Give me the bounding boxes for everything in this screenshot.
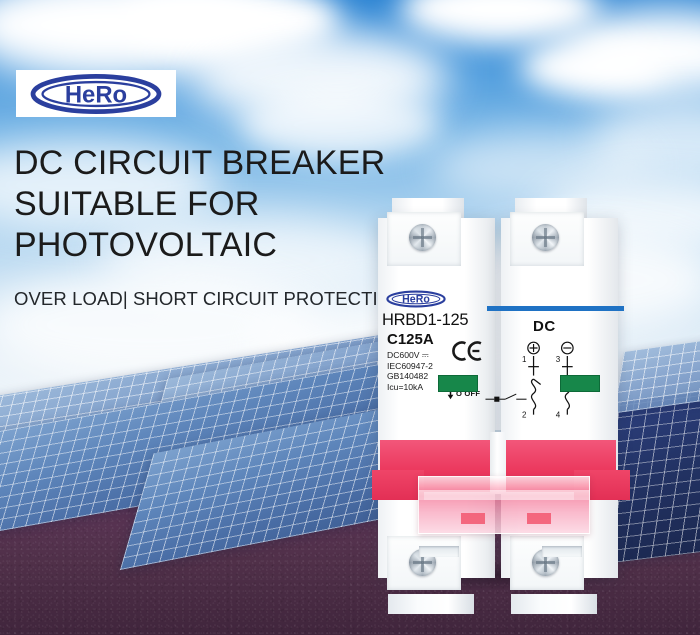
toggle-lip-left	[372, 470, 424, 500]
svg-text:3: 3	[556, 355, 561, 364]
terminal-top-right	[510, 212, 584, 266]
indicator-window-right	[560, 375, 600, 392]
page-title: DC CIRCUIT BREAKER SUITABLE FOR PHOTOVOL…	[14, 143, 434, 266]
product-specs: DC600V ⎓ IEC60947-2 GB140482 Icu=10kA	[387, 350, 433, 392]
toggle-notch	[461, 513, 485, 524]
cloud	[520, 40, 670, 95]
hero-logo-icon: HeRo	[23, 73, 169, 115]
dc-label: DC	[533, 318, 556, 335]
svg-text:HeRo: HeRo	[65, 81, 127, 108]
terminal-bottom-right	[510, 536, 584, 590]
screw-icon	[532, 224, 559, 251]
headline-line-2: SUITABLE FOR	[14, 184, 434, 225]
indicator-window-left	[438, 375, 478, 392]
subtitle: OVER LOAD| SHORT CIRCUIT PROTECTION	[14, 287, 434, 311]
headline-line-3: PHOTOVOLTAIC	[14, 225, 434, 266]
screw-icon	[409, 224, 436, 251]
spec-icu: Icu=10kA	[387, 382, 433, 393]
label-logo: HeRo	[384, 290, 448, 307]
svg-text:HeRo: HeRo	[402, 294, 430, 306]
spec-standard-gb: GB140482	[387, 371, 433, 382]
svg-text:2: 2	[522, 410, 527, 419]
circuit-breaker-product: HeRo HRBD1-125 C125A DC600V ⎓ IEC60947-2…	[378, 198, 624, 598]
terminal-slot	[419, 546, 459, 557]
toggle-notch	[527, 513, 551, 524]
pole-foot	[388, 594, 474, 614]
brand-stripe	[487, 306, 624, 311]
terminal-bottom-left	[387, 536, 461, 590]
breaker-toggle-lever[interactable]	[378, 426, 624, 534]
hero-logo-icon: HeRo	[384, 290, 448, 308]
headline-line-1: DC CIRCUIT BREAKER	[14, 143, 434, 184]
spec-standard-iec: IEC60947-2	[387, 361, 433, 372]
product-model: HRBD1-125	[382, 311, 468, 330]
product-banner: HeRo DC CIRCUIT BREAKER SUITABLE FOR PHO…	[0, 0, 700, 635]
spec-voltage: DC600V ⎓	[387, 350, 433, 361]
product-rating: C125A	[387, 331, 434, 348]
pole-foot	[511, 594, 597, 614]
ce-mark-icon	[450, 340, 484, 362]
brand-logo: HeRo	[16, 70, 176, 117]
terminal-slot	[542, 546, 582, 557]
toggle-link-bar[interactable]	[418, 476, 590, 534]
breaker-pole-left	[378, 198, 495, 598]
svg-text:4: 4	[556, 410, 561, 419]
svg-text:1: 1	[522, 355, 527, 364]
terminal-top-left	[387, 212, 461, 266]
